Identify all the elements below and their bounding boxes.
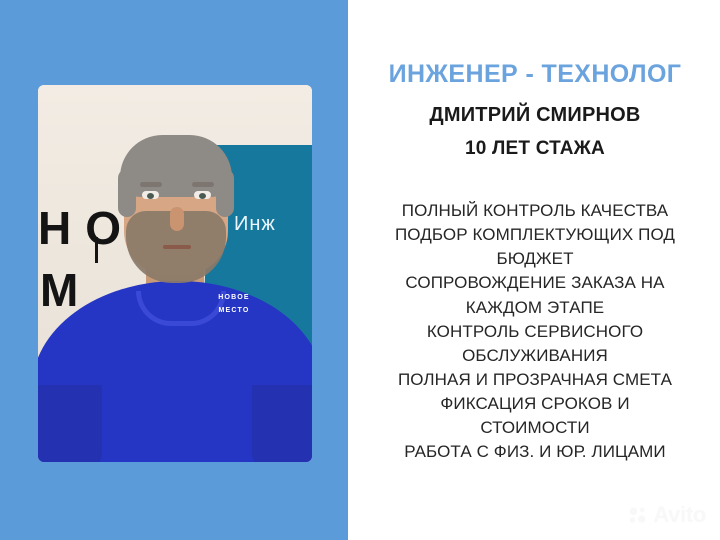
- eyebrow-right: [192, 182, 214, 187]
- avito-watermark: Avito: [627, 502, 706, 528]
- eyebrow-left: [140, 182, 162, 187]
- shirt-logo-line1: НОВОЕ: [218, 294, 250, 301]
- shirt-logo-line2: МЕСТО: [219, 307, 250, 314]
- portrait-photo: Инж НОВ М: [38, 85, 312, 462]
- avito-logo-icon: [627, 504, 649, 526]
- promo-card: Инж НОВ М: [0, 0, 720, 540]
- benefit-line: СТОИМОСТИ: [360, 416, 710, 440]
- hair-side-right: [216, 169, 234, 217]
- person-name: ДМИТРИЙ СМИРНОВ: [360, 104, 710, 127]
- benefit-line: РАБОТА С ФИЗ. И ЮР. ЛИЦАМИ: [360, 440, 710, 464]
- shirt-logo: НОВОЕ МЕСТО: [198, 291, 270, 318]
- hair-side-left: [118, 169, 136, 217]
- benefit-line: СОПРОВОЖДЕНИЕ ЗАКАЗА НА: [360, 271, 710, 295]
- benefit-line: ФИКСАЦИЯ СРОКОВ И: [360, 392, 710, 416]
- job-title: ИНЖЕНЕР - ТЕХНОЛОГ: [360, 60, 710, 89]
- benefit-line: КАЖДОМ ЭТАПЕ: [360, 296, 710, 320]
- shirt-sleeve-right: [252, 385, 312, 462]
- nose: [170, 207, 184, 231]
- benefit-line: ПОЛНЫЙ КОНТРОЛЬ КАЧЕСТВА: [360, 199, 710, 223]
- mouth: [163, 245, 191, 249]
- benefit-line: ПОЛНАЯ И ПРОЗРАЧНАЯ СМЕТА: [360, 368, 710, 392]
- info-column: ИНЖЕНЕР - ТЕХНОЛОГ ДМИТРИЙ СМИРНОВ 10 ЛЕ…: [360, 0, 710, 540]
- benefits-list: ПОЛНЫЙ КОНТРОЛЬ КАЧЕСТВАПОДБОР КОМПЛЕКТУ…: [360, 199, 710, 464]
- eye-right: [194, 191, 211, 199]
- experience-years: 10 ЛЕТ СТАЖА: [360, 138, 710, 160]
- shirt-sleeve-left: [38, 385, 102, 462]
- benefit-line: ПОДБОР КОМПЛЕКТУЮЩИХ ПОД: [360, 223, 710, 247]
- eye-left: [142, 191, 159, 199]
- benefit-line: ОБСЛУЖИВАНИЯ: [360, 344, 710, 368]
- avito-watermark-label: Avito: [653, 502, 706, 528]
- benefit-line: БЮДЖЕТ: [360, 247, 710, 271]
- benefit-line: КОНТРОЛЬ СЕРВИСНОГО: [360, 320, 710, 344]
- person-figure: НОВОЕ МЕСТО: [38, 85, 312, 462]
